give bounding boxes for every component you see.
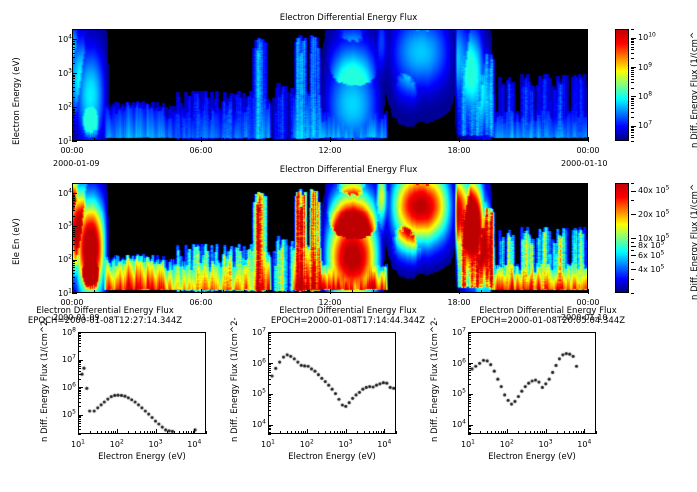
axis-ytick-minor	[72, 112, 75, 113]
subplot-xlabel: Electron Energy (eV)	[438, 452, 626, 462]
axis-xtick-minor	[94, 138, 95, 141]
subplot-ytick-label: 104	[442, 419, 466, 430]
axis-xtick-minor	[438, 138, 439, 141]
colorbar-tick-minor	[631, 70, 634, 71]
subplot-ytick-minor	[78, 364, 81, 365]
panel2-frame	[72, 183, 588, 293]
subplot-ytick-minor	[78, 390, 81, 391]
colorbar-tick-minor	[631, 41, 634, 42]
subplot-ytick-label: 107	[242, 326, 266, 337]
subplot-xtick-label: 104	[370, 438, 398, 449]
subplot-ytick-minor	[468, 379, 471, 380]
subplot-ytick-minor	[268, 333, 271, 334]
subplot-ytick-minor	[268, 397, 271, 398]
subplot-ytick-minor	[78, 398, 81, 399]
colorbar-tick-minor	[631, 200, 634, 201]
axis-ytick-minor	[72, 81, 75, 82]
axis-xtick-minor	[72, 290, 73, 293]
subplot-xtick-minor	[534, 431, 535, 434]
subplot-xtick-minor	[337, 431, 338, 434]
axis-xtick-minor	[330, 290, 331, 293]
axis-xtick-minor	[180, 290, 181, 293]
subplot-xtick-minor	[503, 431, 504, 434]
colorbar-tick-minor	[631, 130, 634, 131]
axis-xtick-minor	[395, 290, 396, 293]
subplot-ytick-minor	[268, 341, 271, 342]
axis-xtick-minor	[438, 290, 439, 293]
subplot-xtick-minor	[369, 431, 370, 434]
colorbar-tick-minor	[631, 76, 634, 77]
subplot-ytick-minor	[268, 399, 271, 400]
subplot-ytick-label: 105	[242, 388, 266, 399]
colorbar-tick-label: 107	[638, 120, 652, 131]
subplot-data-points	[269, 333, 395, 433]
axis-xtick-minor	[115, 138, 116, 141]
subplot-ytick-label: 106	[242, 357, 266, 368]
subplot-xtick-minor	[378, 431, 379, 434]
colorbar-tick-minor	[631, 29, 634, 30]
subplot-ytick-minor	[468, 434, 471, 435]
axis-ytick-minor	[72, 76, 75, 77]
subplot-xtick-minor	[376, 431, 377, 434]
colorbar-tick-minor	[631, 49, 634, 50]
colorbar-tick-minor	[631, 269, 634, 270]
axis-ytick-minor	[72, 97, 75, 98]
subplot-ytick-minor	[78, 362, 81, 363]
colorbar-tick-minor	[631, 132, 634, 133]
colorbar-tick-minor	[631, 42, 634, 43]
subplot-xtick-minor	[303, 431, 304, 434]
subplot-ytick-minor	[78, 391, 81, 392]
subplot-xtick-minor	[280, 431, 281, 434]
subplot-ytick-minor	[268, 403, 271, 404]
colorbar-tick-minor	[631, 44, 634, 45]
subplot-ytick-minor	[78, 406, 81, 407]
subplot-ytick-minor	[268, 406, 271, 407]
subplot-xtick-minor	[101, 431, 102, 434]
subplot-ytick-minor	[268, 366, 271, 367]
colorbar-tick-minor	[631, 103, 634, 104]
axis-ytick-label: 101	[48, 135, 72, 146]
axis-ytick-minor	[72, 270, 75, 271]
axis-xtick-minor	[201, 138, 202, 141]
subplot-xtick-minor	[498, 431, 499, 434]
axis-xtick-minor	[223, 138, 224, 141]
panel1-ylabel: Electron Energy (eV)	[12, 57, 22, 145]
subplot-ytick-label: 106	[52, 381, 76, 392]
subplot-xtick-mark	[507, 429, 508, 434]
subplot-xtick-minor	[318, 431, 319, 434]
axis-ytick-minor	[72, 115, 75, 116]
axis-xtick-minor	[545, 138, 546, 141]
subplot-xtick-minor	[167, 431, 168, 434]
subplot-xtick-minor	[206, 431, 207, 434]
subplot-xtick-minor	[105, 431, 106, 434]
axis-xtick-minor	[72, 138, 73, 141]
axis-ytick-minor	[72, 265, 75, 266]
axis-xtick-minor	[481, 138, 482, 141]
axis-xtick-minor	[481, 290, 482, 293]
axis-ytick-minor	[72, 206, 75, 207]
subplot-ytick-minor	[468, 372, 471, 373]
axis-ytick-minor	[72, 91, 75, 92]
axis-ytick-label: 102	[48, 101, 72, 112]
axis-xtick-minor	[502, 290, 503, 293]
subplot-ytick-minor	[268, 375, 271, 376]
figure-canvas: Electron Differential Energy Flux Electr…	[0, 0, 697, 492]
subplot-ylabel: n Diff. Energy Flux (1/(cm^2-	[40, 317, 50, 442]
subplot-xtick-minor	[537, 431, 538, 434]
colorbar-tick-minor	[631, 127, 634, 128]
panel2-colorbar-frame	[615, 183, 629, 293]
subplot-xtick-minor	[295, 431, 296, 434]
axis-xtick-minor	[524, 138, 525, 141]
subplot-ytick-minor	[78, 343, 81, 344]
subplot-title: Electron Differential Energy Flux	[248, 306, 448, 316]
subplot-xtick-minor	[325, 431, 326, 434]
subplot-xtick-minor	[342, 431, 343, 434]
subplot-xtick-label: 102	[493, 438, 521, 449]
subplot-xtick-label: 102	[293, 438, 321, 449]
subplot-ytick-minor	[78, 336, 81, 337]
axis-xtick-minor	[266, 290, 267, 293]
panel2-colorbar-label: n Diff. Energy Flux (1/(cm^	[690, 184, 697, 300]
axis-ytick-minor	[72, 49, 75, 50]
colorbar-tick-minor	[631, 117, 634, 118]
subplot-ytick-minor	[268, 410, 271, 411]
subplot-xtick-minor	[128, 431, 129, 434]
axis-ytick-minor	[72, 250, 75, 251]
subplot-ytick-minor	[468, 339, 471, 340]
axis-ytick-minor	[72, 236, 75, 237]
subplot-ytick-minor	[78, 374, 81, 375]
axis-xtick-minor	[352, 290, 353, 293]
subplot-xtick-minor	[581, 431, 582, 434]
colorbar-tick-minor	[631, 99, 634, 100]
axis-ytick-minor	[72, 125, 75, 126]
subplot-ytick-minor	[468, 368, 471, 369]
subplot-xtick-label: 104	[570, 438, 598, 449]
subplot-ytick-minor	[78, 419, 81, 420]
subplot-data-points	[469, 333, 595, 433]
colorbar-tick-minor	[631, 293, 634, 294]
axis-ytick-minor	[72, 183, 75, 184]
axis-ytick-minor	[72, 131, 75, 132]
axis-ytick-minor	[72, 263, 75, 264]
subplot-ytick-minor	[268, 348, 271, 349]
subplot-ytick-minor	[78, 335, 81, 336]
colorbar-tick-minor	[631, 262, 634, 263]
axis-xtick-minor	[373, 138, 374, 141]
subplot-xtick-mark	[156, 429, 157, 434]
subplot-xtick-minor	[505, 431, 506, 434]
subplot-ytick-minor	[78, 338, 81, 339]
subplot-ytick-minor	[468, 403, 471, 404]
colorbar-tick-label: 109	[638, 61, 652, 72]
colorbar-tick-minor	[631, 108, 634, 109]
subplot-xtick-minor	[373, 431, 374, 434]
colorbar-tick-minor	[631, 82, 634, 83]
subplot-xtick-minor	[179, 431, 180, 434]
axis-xtick-label: 06:00	[182, 146, 220, 155]
colorbar-tick-minor	[631, 255, 634, 256]
subplot-xtick-label: 101	[254, 438, 282, 449]
axis-ytick-minor	[72, 63, 75, 64]
subplot-xtick-mark	[78, 429, 79, 434]
axis-xtick-label: 18:00	[440, 146, 478, 155]
axis-ytick-label: 102	[48, 254, 72, 265]
colorbar-tick-label: 6x 105	[638, 249, 664, 260]
subplot-subtitle: EPOCH=2000-01-08T12:27:14.344Z	[0, 316, 230, 326]
colorbar-tick-minor	[631, 112, 634, 113]
subplot-ytick-label: 104	[242, 419, 266, 430]
axis-ytick-minor	[72, 210, 75, 211]
subplot-xtick-mark	[346, 429, 347, 434]
subplot-xtick-minor	[596, 431, 597, 434]
subplot-ytick-minor	[78, 371, 81, 372]
subplot-xtick-mark	[307, 429, 308, 434]
subplot-xtick-label: 102	[103, 438, 131, 449]
subplot-ytick-minor	[268, 368, 271, 369]
colorbar-tick-label: 4x 105	[638, 263, 664, 274]
subplot-ytick-minor	[268, 335, 271, 336]
subplot-xtick-minor	[576, 431, 577, 434]
axis-ytick-minor	[72, 109, 75, 110]
axis-ytick-minor	[72, 232, 75, 233]
colorbar-tick-minor	[631, 183, 634, 184]
subplot-ytick-minor	[268, 372, 271, 373]
subplot-ytick-minor	[468, 341, 471, 342]
subplot-xtick-minor	[381, 431, 382, 434]
subplot-ytick-minor	[468, 406, 471, 407]
subplot-ytick-minor	[468, 375, 471, 376]
subplot-xtick-minor	[491, 431, 492, 434]
axis-ytick-minor	[72, 41, 75, 42]
axis-ytick-minor	[72, 44, 75, 45]
axis-xtick-label: 00:00	[53, 146, 91, 155]
axis-ytick-minor	[72, 53, 75, 54]
subplot-xtick-minor	[305, 431, 306, 434]
subplot-ytick-minor	[268, 364, 271, 365]
colorbar-tick-minor	[631, 39, 634, 40]
axis-xtick-minor	[459, 290, 460, 293]
subplot-xtick-minor	[301, 431, 302, 434]
axis-ytick-minor	[72, 198, 75, 199]
subplot-xtick-minor	[152, 431, 153, 434]
subplot-xtick-minor	[383, 431, 384, 434]
colorbar-tick-minor	[631, 47, 634, 48]
axis-xtick-minor	[180, 138, 181, 141]
subplot-xtick-label: 103	[532, 438, 560, 449]
panel1-colorbar-frame	[615, 29, 629, 141]
colorbar-tick-minor	[631, 246, 634, 247]
subplot-xtick-minor	[186, 431, 187, 434]
subplot-xtick-minor	[140, 431, 141, 434]
subplot-xtick-minor	[147, 431, 148, 434]
subplot-ytick-minor	[468, 344, 471, 345]
axis-xtick-label: 00:00	[569, 146, 607, 155]
subplot-xtick-label: 104	[180, 438, 208, 449]
subplot-ytick-label: 107	[442, 326, 466, 337]
axis-xtick-minor	[395, 138, 396, 141]
subplot-xtick-minor	[573, 431, 574, 434]
subplot-xtick-label: 103	[332, 438, 360, 449]
subplot-ytick-minor	[268, 354, 271, 355]
axis-ytick-minor	[72, 47, 75, 48]
axis-xtick-minor	[94, 290, 95, 293]
subplot-ytick-minor	[78, 361, 81, 362]
colorbar-tick-minor	[631, 79, 634, 80]
subplot-xtick-minor	[557, 431, 558, 434]
axis-ytick-minor	[72, 273, 75, 274]
axis-xtick-minor	[309, 290, 310, 293]
subplot-xtick-minor	[298, 431, 299, 434]
colorbar-tick-minor	[631, 137, 634, 138]
subplot-ytick-minor	[268, 379, 271, 380]
subplot-ytick-minor	[78, 426, 81, 427]
subplot-xtick-minor	[487, 431, 488, 434]
subplot-ytick-minor	[268, 370, 271, 371]
colorbar-tick-minor	[631, 135, 634, 136]
subplot-ytick-minor	[468, 366, 471, 367]
subplot-ytick-minor	[468, 384, 471, 385]
panel1-title: Electron Differential Energy Flux	[0, 13, 697, 23]
subplot-xtick-minor	[154, 431, 155, 434]
subplot-xtick-minor	[287, 431, 288, 434]
axis-xtick-minor	[459, 138, 460, 141]
subplot-ytick-minor	[78, 368, 81, 369]
subplot-xtick-minor	[364, 431, 365, 434]
colorbar-tick-minor	[631, 250, 634, 251]
subplot-xtick-minor	[578, 431, 579, 434]
colorbar-tick-label: 1010	[638, 32, 656, 43]
subplot-subtitle: EPOCH=2000-01-08T17:14:44.344Z	[248, 316, 448, 326]
axis-xtick-minor	[137, 138, 138, 141]
axis-xtick-minor	[287, 138, 288, 141]
subplot-xtick-minor	[540, 431, 541, 434]
subplot-ytick-label: 106	[442, 357, 466, 368]
axis-xtick-minor	[416, 138, 417, 141]
subplot-xtick-minor	[495, 431, 496, 434]
subplot-xtick-minor	[150, 431, 151, 434]
subplot-xtick-label: 101	[64, 438, 92, 449]
subplot-xtick-minor	[135, 431, 136, 434]
axis-ytick-minor	[72, 216, 75, 217]
subplot-xtick-mark	[546, 429, 547, 434]
axis-ytick-minor	[72, 43, 75, 44]
subplot-xtick-minor	[525, 431, 526, 434]
axis-xtick-minor	[588, 290, 589, 293]
axis-ytick-minor	[72, 203, 75, 204]
colorbar-tick-minor	[631, 58, 634, 59]
colorbar-tick-minor	[631, 74, 634, 75]
subplot-xlabel: Electron Energy (eV)	[238, 452, 426, 462]
subplot-ytick-minor	[78, 351, 81, 352]
axis-xtick-minor	[567, 290, 568, 293]
subplot-ytick-minor	[268, 434, 271, 435]
subplot-ytick-minor	[468, 370, 471, 371]
subplot-xtick-label: 101	[454, 438, 482, 449]
subplot-title: Electron Differential Energy Flux	[0, 306, 230, 316]
subplot-ytick-minor	[78, 402, 81, 403]
subplot-xtick-minor	[396, 431, 397, 434]
subplot-ytick-minor	[78, 340, 81, 341]
colorbar-tick-label: 20x 105	[638, 208, 669, 219]
subplot-ytick-label: 105	[442, 388, 466, 399]
panel2-title: Electron Differential Energy Flux	[0, 165, 697, 175]
subplot-xtick-minor	[564, 431, 565, 434]
colorbar-tick-label: 108	[638, 90, 652, 101]
axis-xtick-minor	[137, 290, 138, 293]
colorbar-tick-minor	[631, 191, 634, 192]
axis-xtick-minor	[244, 138, 245, 141]
axis-ytick-minor	[72, 244, 75, 245]
axis-ytick-minor	[72, 117, 75, 118]
colorbar-tick-label: 40x 105	[638, 185, 669, 196]
axis-xtick-minor	[567, 138, 568, 141]
axis-xtick-minor	[244, 290, 245, 293]
subplot-ytick-minor	[268, 415, 271, 416]
subplot-ytick-minor	[268, 344, 271, 345]
subplot-xtick-minor	[569, 431, 570, 434]
subplot-ytick-minor	[78, 393, 81, 394]
subplot-xtick-mark	[384, 429, 385, 434]
subplot-title: Electron Differential Energy Flux	[448, 306, 648, 316]
axis-ytick-minor	[72, 267, 75, 268]
axis-ytick-minor	[72, 57, 75, 58]
axis-ytick-minor	[72, 230, 75, 231]
subplot-ytick-label: 107	[52, 354, 76, 365]
subplot-ytick-minor	[78, 366, 81, 367]
subplot-xtick-mark	[117, 429, 118, 434]
panel1-frame	[72, 29, 588, 141]
colorbar-tick-minor	[631, 214, 634, 215]
subplot-ytick-minor	[468, 348, 471, 349]
colorbar-tick-minor	[631, 279, 634, 280]
colorbar-tick-label: 10x 105	[638, 232, 669, 243]
subplot-ytick-minor	[468, 397, 471, 398]
colorbar-tick-minor	[631, 141, 634, 142]
axis-ytick-label: 103	[48, 220, 72, 231]
subplot-ytick-minor	[78, 388, 81, 389]
axis-ytick-minor	[72, 283, 75, 284]
subplot-xtick-minor	[144, 431, 145, 434]
subplot-xtick-minor	[191, 431, 192, 434]
subplot-xtick-minor	[330, 431, 331, 434]
subplot-xtick-minor	[480, 431, 481, 434]
subplot-ytick-minor	[78, 416, 81, 417]
axis-ytick-minor	[72, 261, 75, 262]
axis-ytick-minor	[72, 240, 75, 241]
colorbar-tick-minor	[631, 98, 634, 99]
axis-xtick-minor	[287, 290, 288, 293]
axis-ytick-label: 101	[48, 287, 72, 298]
subplot-ytick-label: 105	[52, 409, 76, 420]
axis-xtick-minor	[158, 138, 159, 141]
subplot-ytick-minor	[78, 379, 81, 380]
subplot-xtick-minor	[357, 431, 358, 434]
axis-xtick-minor	[545, 290, 546, 293]
axis-xtick-minor	[223, 290, 224, 293]
subplot-ytick-minor	[468, 364, 471, 365]
colorbar-tick-minor	[631, 105, 634, 106]
axis-xtick-label: 12:00	[311, 146, 349, 155]
subplot-xtick-minor	[334, 431, 335, 434]
axis-ytick-minor	[72, 29, 75, 30]
subplot-xtick-minor	[111, 431, 112, 434]
subplot-ytick-label: 108	[52, 326, 76, 337]
axis-xtick-minor	[373, 290, 374, 293]
